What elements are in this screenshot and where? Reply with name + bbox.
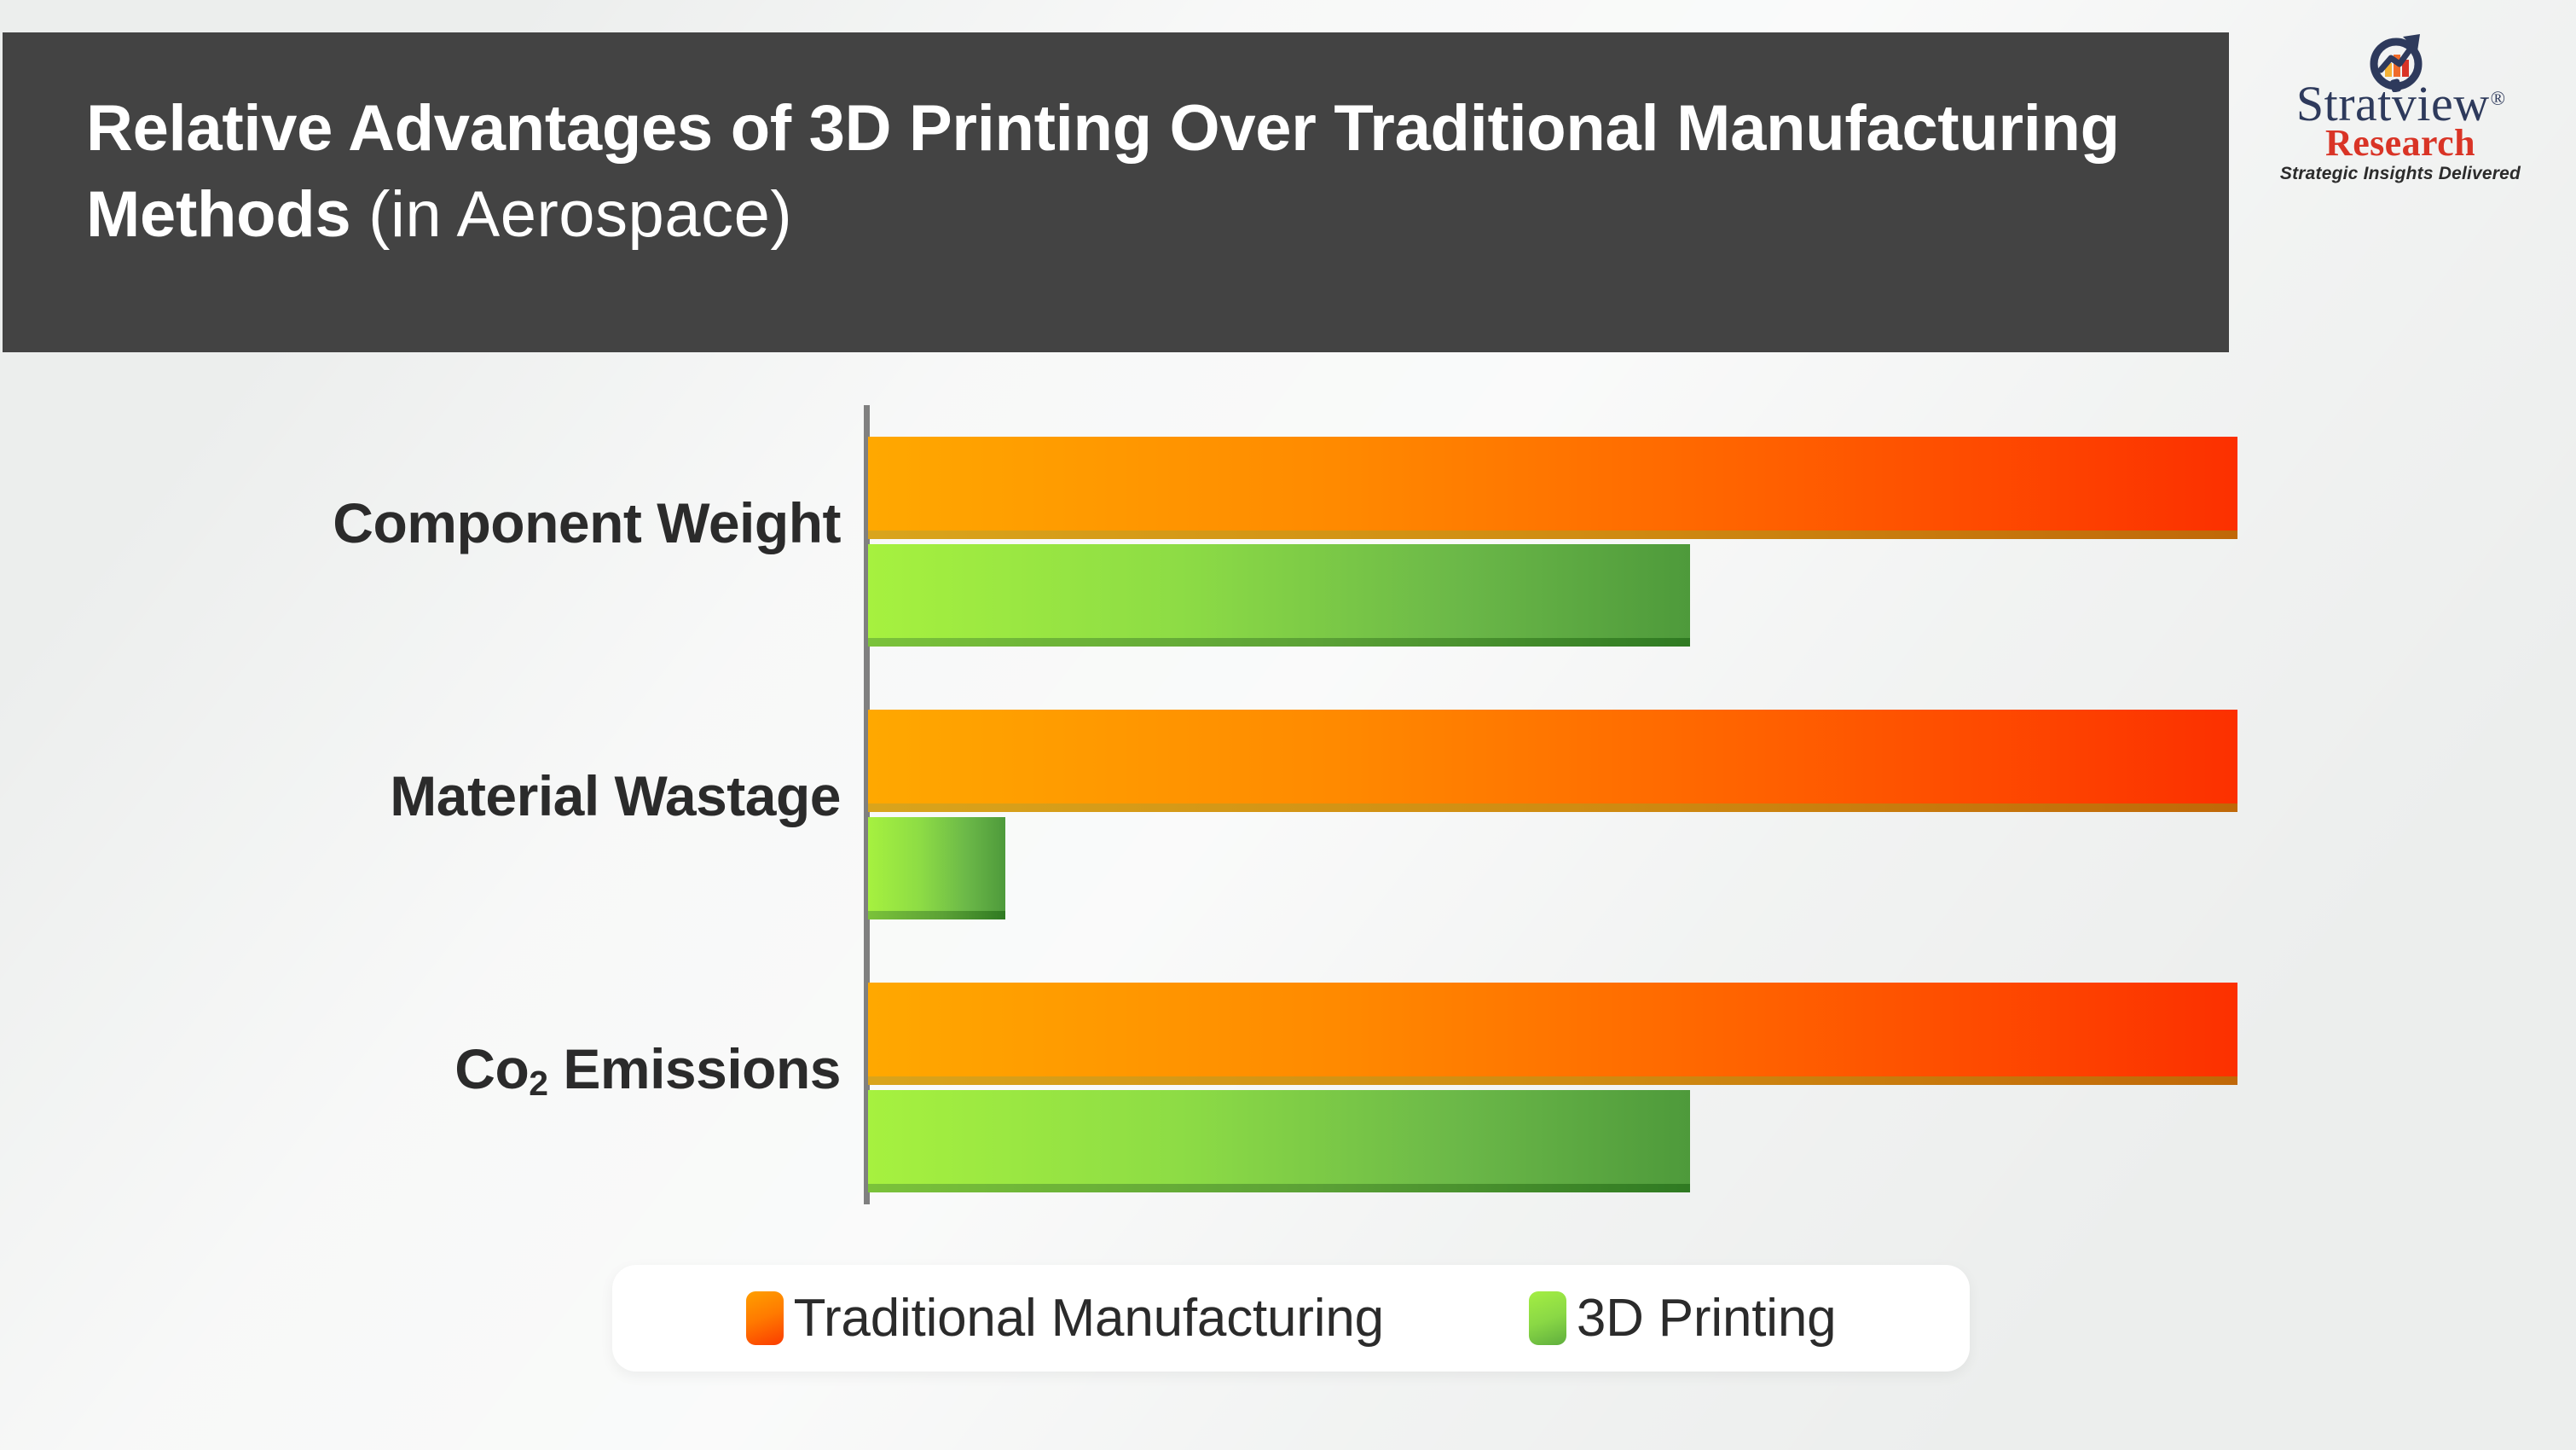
legend-item-traditional-manufacturing[interactable]: Traditional Manufacturing bbox=[746, 1288, 1384, 1348]
bar-traditional-co2-emissions bbox=[868, 983, 2237, 1085]
bar-traditional-component-weight bbox=[868, 437, 2237, 539]
category-label-co2-emissions: Co2 Emissions bbox=[454, 1036, 841, 1101]
bar-base-shadow bbox=[868, 1184, 1690, 1192]
category-label-component-weight: Component Weight bbox=[333, 490, 841, 555]
bar-base-shadow bbox=[868, 1076, 2237, 1085]
bar-base-shadow bbox=[868, 638, 1690, 647]
bar-fill bbox=[868, 1090, 1690, 1184]
bar-3dprinting-co2-emissions bbox=[868, 1090, 1690, 1192]
bar-base-shadow bbox=[868, 911, 1005, 919]
bar-fill bbox=[868, 983, 2237, 1076]
bar-base-shadow bbox=[868, 803, 2237, 812]
bar-3dprinting-component-weight bbox=[868, 544, 1690, 647]
legend-item-3d-printing[interactable]: 3D Printing bbox=[1529, 1288, 1837, 1348]
bar-fill bbox=[868, 437, 2237, 531]
bar-fill bbox=[868, 544, 1690, 638]
legend-label-3d-printing: 3D Printing bbox=[1577, 1288, 1837, 1348]
bar-fill bbox=[868, 710, 2237, 803]
category-label-material-wastage: Material Wastage bbox=[390, 763, 841, 828]
legend-swatch-orange-icon bbox=[746, 1291, 784, 1345]
chart-legend: Traditional Manufacturing 3D Printing bbox=[612, 1265, 1970, 1372]
bar-traditional-material-wastage bbox=[868, 710, 2237, 812]
bar-3dprinting-material-wastage bbox=[868, 817, 1005, 919]
legend-swatch-green-icon bbox=[1529, 1291, 1566, 1345]
infographic-page: Relative Advantages of 3D Printing Over … bbox=[0, 0, 2576, 1450]
bar-base-shadow bbox=[868, 531, 2237, 539]
bar-fill bbox=[868, 817, 1005, 911]
legend-label-traditional-manufacturing: Traditional Manufacturing bbox=[794, 1288, 1384, 1348]
horizontal-bar-chart: Component Weight Material Wastage Co2 Em… bbox=[0, 0, 2576, 1450]
